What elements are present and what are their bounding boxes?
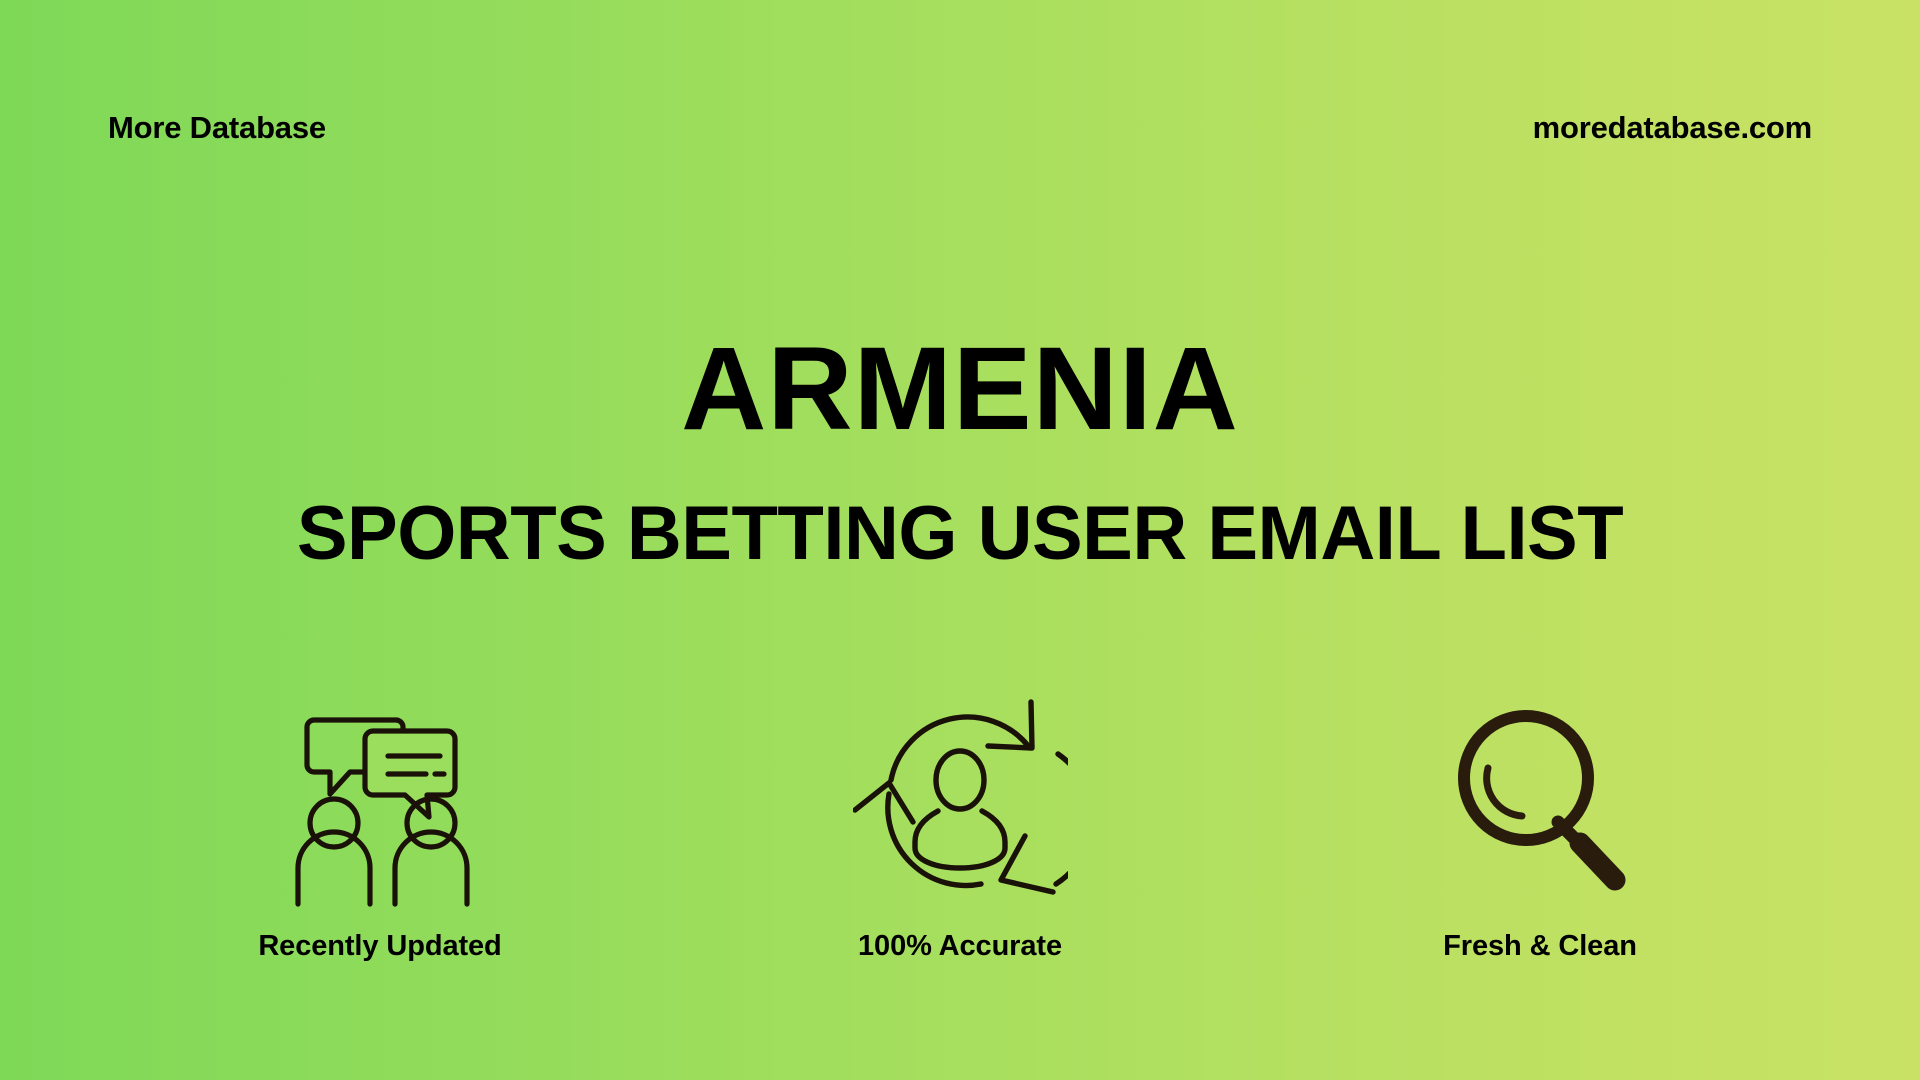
headline-block: ARMENIA SPORTS BETTING USER EMAIL LIST [0,330,1920,572]
feature-label: Fresh & Clean [1443,932,1637,961]
feature-item-recently-updated: Recently Updated [165,690,595,961]
banner-header: More Database moredatabase.com [108,104,1812,150]
people-chat-icon [278,690,483,910]
feature-item-fresh-clean: Fresh & Clean [1325,690,1755,961]
brand-logo: More Database [108,112,326,143]
site-url: moredatabase.com [1533,112,1812,143]
feature-item-accurate: 100% Accurate [745,690,1175,961]
page-title: ARMENIA [0,330,1920,448]
feature-label: 100% Accurate [858,932,1062,961]
promo-banner: More Database moredatabase.com ARMENIA S… [0,0,1920,1080]
feature-label: Recently Updated [258,932,501,961]
feature-row: Recently Updated [0,690,1920,961]
page-subtitle: SPORTS BETTING USER EMAIL LIST [0,448,1920,572]
magnifying-glass-icon [1448,690,1633,910]
user-refresh-cycle-icon [853,690,1068,910]
